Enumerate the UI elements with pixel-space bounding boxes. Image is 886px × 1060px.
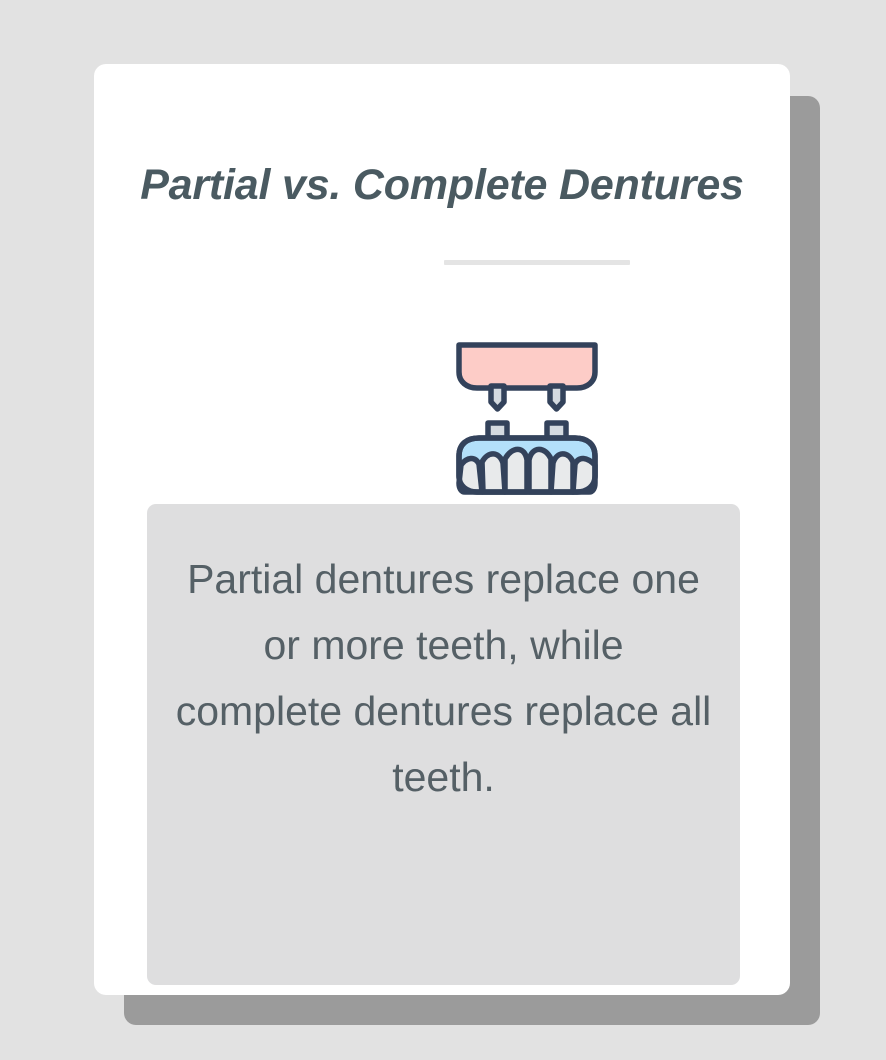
content-card: Partial vs. Complete Dentures [94,64,790,995]
tooth-central-left [505,449,527,492]
denture-plate-pink [459,345,595,388]
denture-prong-left [491,386,504,409]
tooth-central-right [529,449,551,492]
denture-illustration-svg [437,326,637,502]
tooth-lateral-right [551,454,573,492]
denture-illustration [437,326,637,502]
denture-prong-right [550,386,563,409]
page-title: Partial vs. Complete Dentures [94,164,790,207]
tooth-lateral-left [482,454,505,492]
slide-canvas: Partial vs. Complete Dentures [0,0,886,1060]
description-panel: Partial dentures replace one or more tee… [147,504,740,985]
title-divider [444,260,630,265]
description-text: Partial dentures replace one or more tee… [175,546,712,810]
